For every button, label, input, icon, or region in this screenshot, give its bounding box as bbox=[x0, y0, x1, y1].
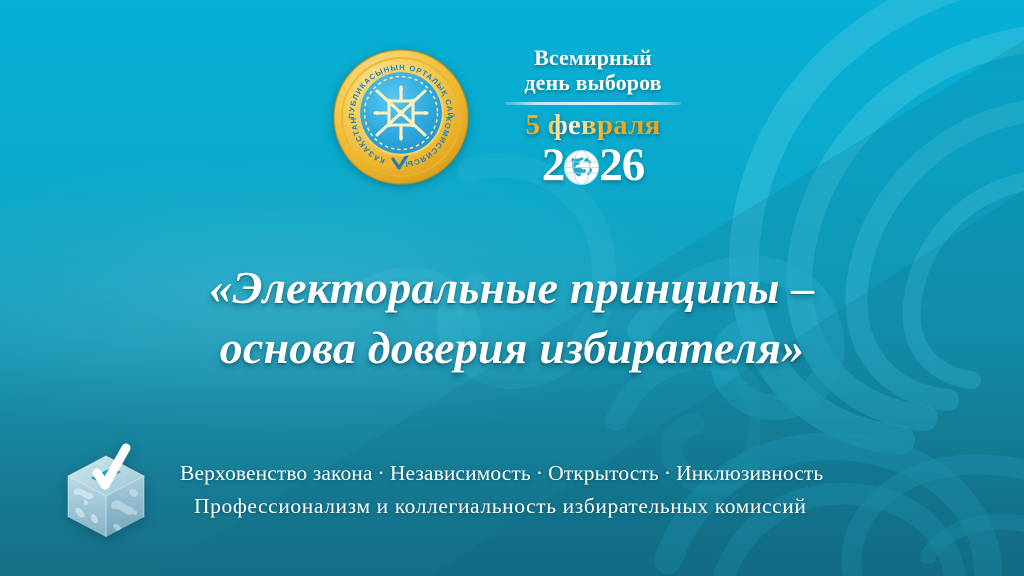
kazakhstan-cec-seal-icon: РЕСПУБЛИКАСЫНЫҢ ОРТАЛЫҚ САЙЛАУ КОМИССИЯС… bbox=[333, 49, 469, 185]
principle-rule-of-law: Верховенство закона bbox=[180, 461, 373, 485]
wed-title: Всемирный день выборов bbox=[524, 46, 661, 95]
page-title: «Электоральные принципы – основа доверия… bbox=[0, 258, 1024, 378]
principle-openness: Открытость bbox=[548, 461, 659, 485]
principles-text: Верховенство закона·Независимость·Открыт… bbox=[180, 457, 984, 522]
page-title-line2: основа доверия избирателя» bbox=[70, 318, 954, 378]
separator-dot-1: · bbox=[373, 461, 390, 485]
wed-year-suffix: 26 bbox=[599, 142, 644, 189]
wed-year: 2 bbox=[542, 142, 645, 189]
separator-dot-2: · bbox=[531, 461, 548, 485]
wed-divider bbox=[505, 102, 681, 105]
world-elections-day-block: Всемирный день выборов 5 февраля 2 bbox=[495, 46, 691, 189]
wed-year-prefix: 2 bbox=[542, 142, 565, 189]
header-lockup: РЕСПУБЛИКАСЫНЫҢ ОРТАЛЫҚ САЙЛАУ КОМИССИЯС… bbox=[0, 46, 1024, 189]
separator-dot-3: · bbox=[659, 461, 676, 485]
principles-line-2: Профессионализм и коллегиальность избира… bbox=[180, 490, 984, 523]
principle-inclusiveness: Инклюзивность bbox=[676, 461, 823, 485]
wed-date: 5 февраля bbox=[526, 110, 661, 140]
ballot-box-with-check-icon bbox=[54, 438, 158, 542]
page-title-line1: «Электоральные принципы – bbox=[70, 258, 954, 318]
principles-line-1: Верховенство закона·Независимость·Открыт… bbox=[180, 457, 984, 490]
wed-title-line1: Всемирный bbox=[534, 45, 652, 70]
globe-icon bbox=[563, 149, 600, 186]
principle-independence: Независимость bbox=[390, 461, 531, 485]
poster-canvas: РЕСПУБЛИКАСЫНЫҢ ОРТАЛЫҚ САЙЛАУ КОМИССИЯС… bbox=[0, 0, 1024, 576]
wed-title-line2: день выборов bbox=[524, 71, 661, 96]
footer-principles-bar: Верховенство закона·Независимость·Открыт… bbox=[54, 438, 984, 542]
